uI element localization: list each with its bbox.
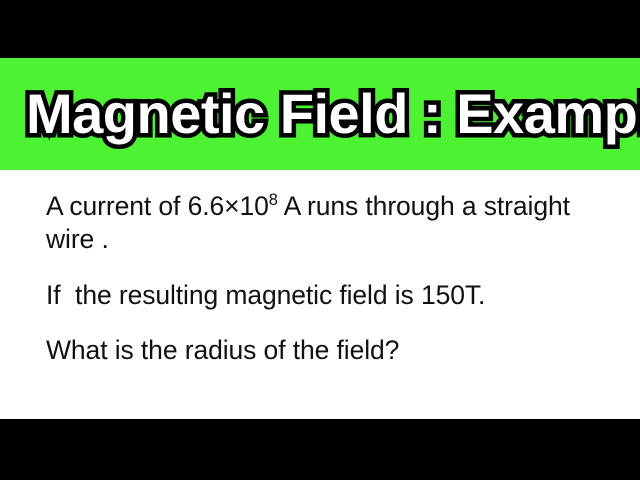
- title-banner: Magnetic Field : Example 1: [0, 58, 640, 170]
- problem-text-block: A current of 6.6×108 A runs through a st…: [46, 190, 616, 367]
- problem-body: A current of 6.6×108 A runs through a st…: [0, 170, 640, 419]
- problem-question-line: What is the radius of the field?: [46, 334, 616, 367]
- page-title: Magnetic Field : Example 1: [26, 86, 640, 142]
- problem-current-prefix: A current of 6.6×10: [46, 191, 269, 221]
- letterbox-bar-bottom: [0, 419, 640, 480]
- slide-root: Magnetic Field : Example 1 A current of …: [0, 0, 640, 480]
- letterbox-bar-top: [0, 0, 640, 58]
- problem-current-exponent: 8: [269, 191, 278, 209]
- problem-statement-line-1: A current of 6.6×108 A runs through a st…: [46, 190, 616, 256]
- problem-statement-line-2: If the resulting magnetic field is 150T.: [46, 279, 616, 312]
